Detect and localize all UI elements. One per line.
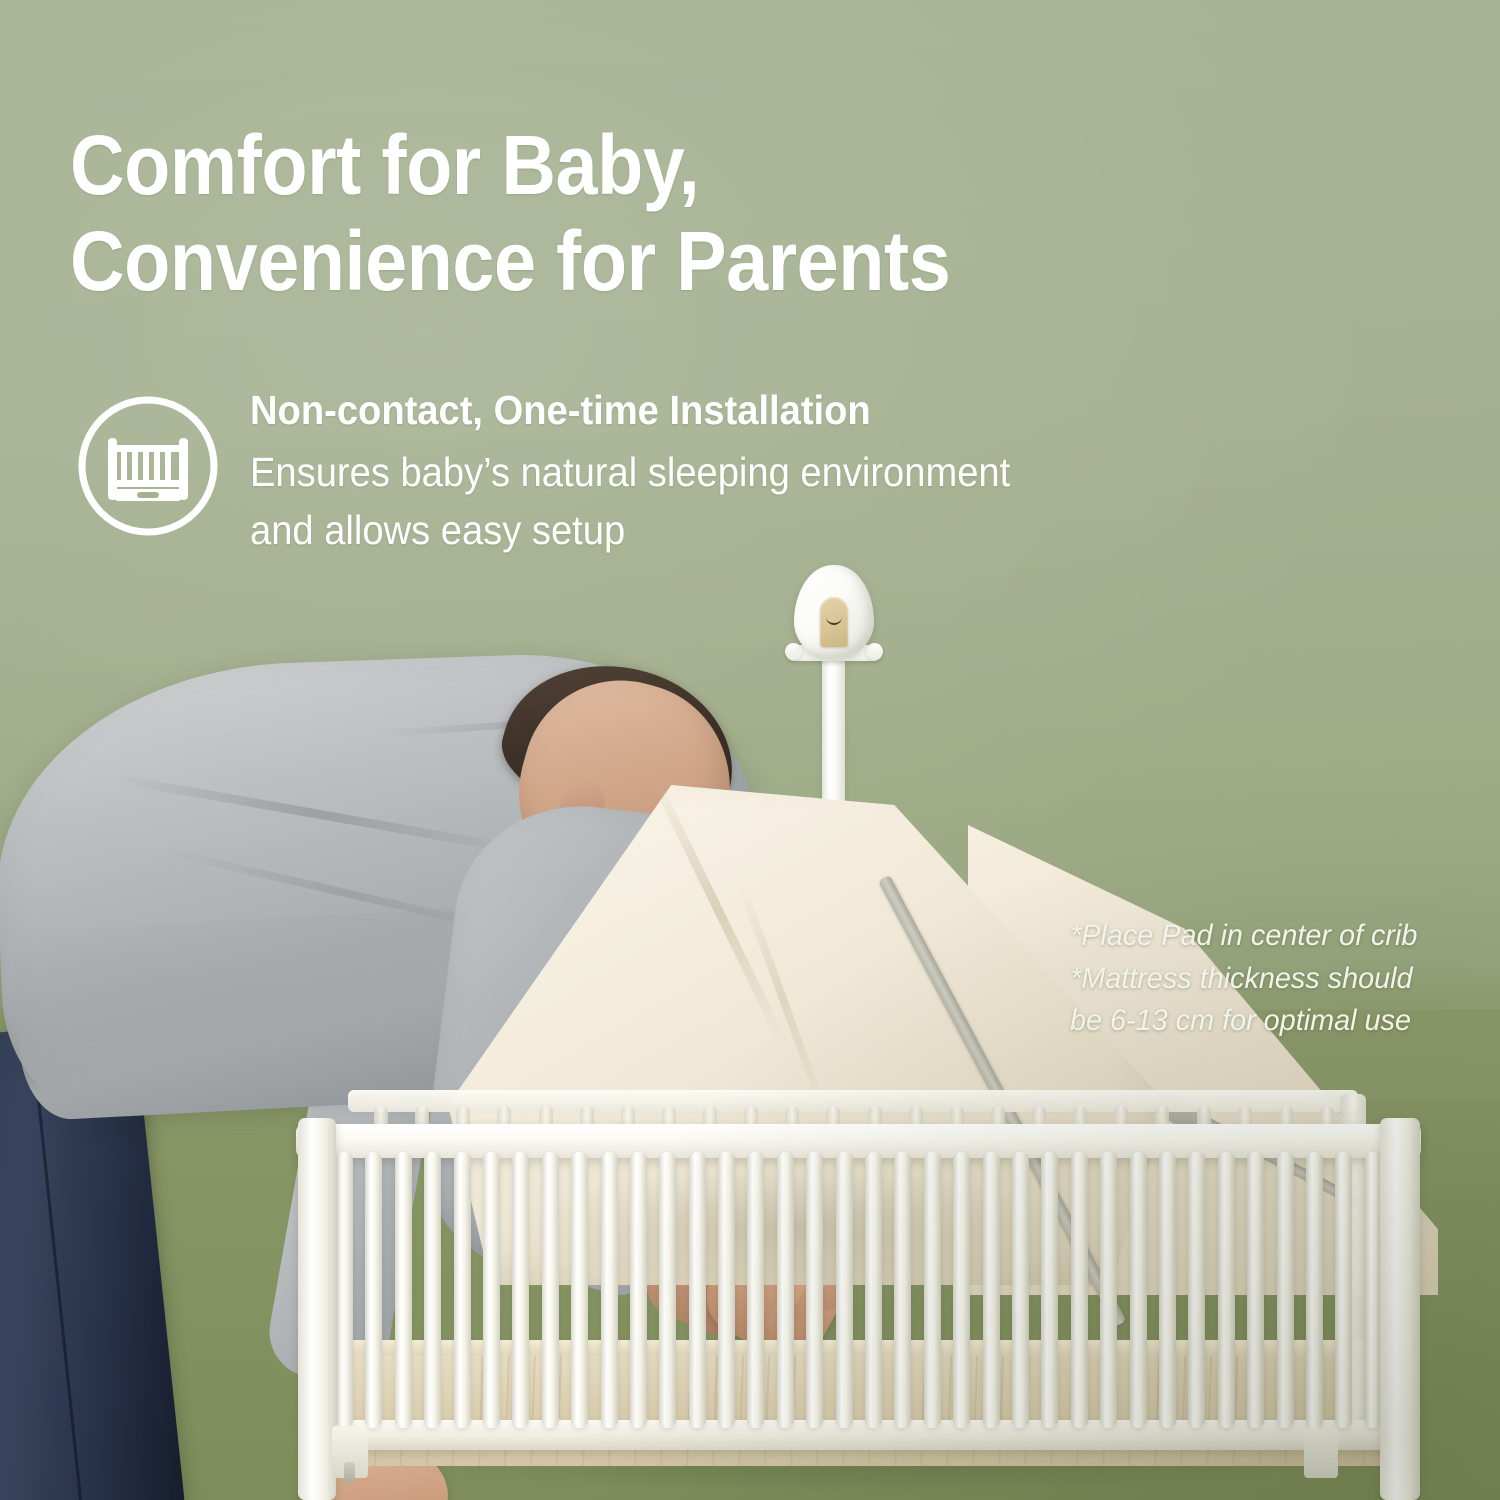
feature-body-line-2: and allows easy setup — [250, 502, 1010, 559]
footnote-line-2: *Mattress thickness should — [1070, 958, 1454, 1001]
feature-block: Non-contact, One-time Installation Ensur… — [72, 382, 1402, 559]
footnote-line-3: be 6-13 cm for optimal use — [1070, 1000, 1454, 1043]
footnote-block: *Place Pad in center of crib *Mattress t… — [1070, 915, 1454, 1043]
headline-line-1: Comfort for Baby, — [70, 118, 699, 212]
feature-description: Ensures baby’s natural sleeping environm… — [250, 444, 1010, 559]
headline-line-2: Convenience for Parents — [70, 214, 1240, 310]
crib-icon — [72, 390, 224, 542]
feature-body-line-1: Ensures baby’s natural sleeping environm… — [250, 444, 1010, 501]
product-feature-banner: Comfort for Baby, Convenience for Parent… — [0, 0, 1500, 1500]
feature-text: Non-contact, One-time Installation Ensur… — [250, 382, 1067, 559]
page-title: Comfort for Baby, Convenience for Parent… — [70, 118, 1240, 310]
footnote-line-1: *Place Pad in center of crib — [1070, 915, 1454, 958]
feature-title: Non-contact, One-time Installation — [250, 386, 1010, 434]
